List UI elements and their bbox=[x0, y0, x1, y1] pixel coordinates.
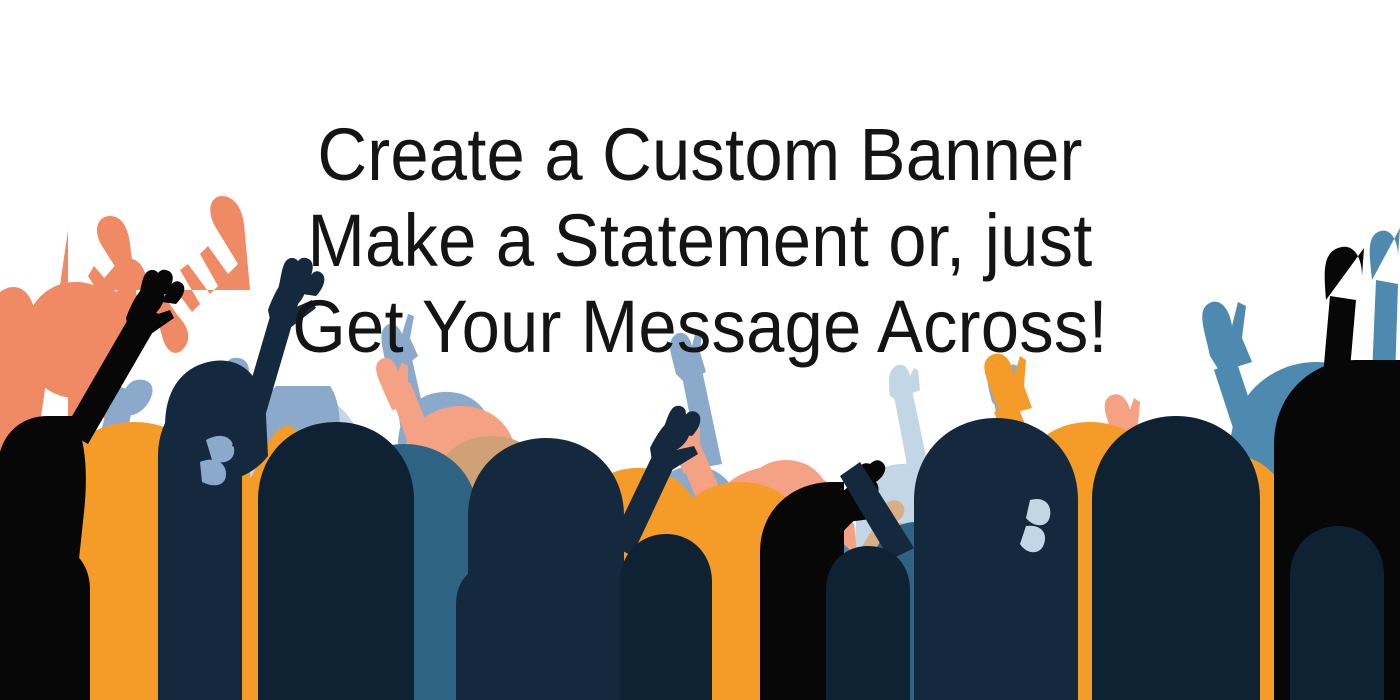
crowd-silhouette-artwork bbox=[0, 0, 1400, 700]
banner-canvas: Create a Custom Banner Make a Statement … bbox=[0, 0, 1400, 700]
